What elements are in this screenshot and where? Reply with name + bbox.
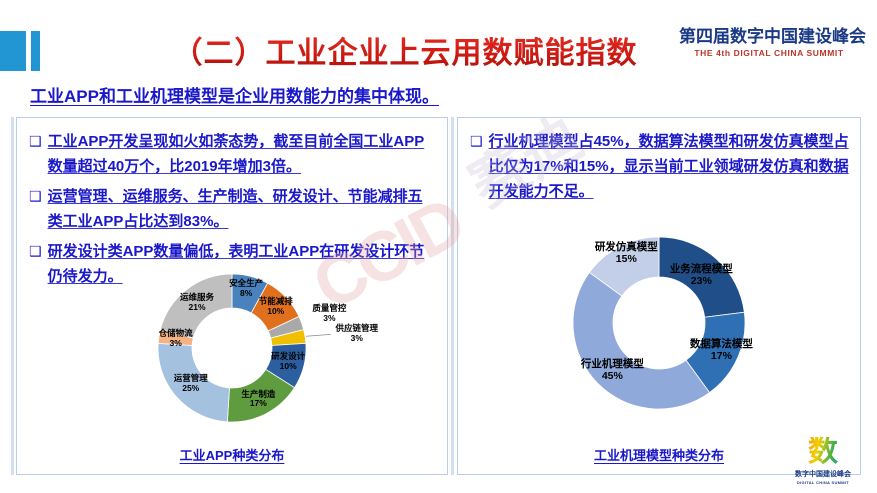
summit-logo-cn: 第四届数字中国建设峰会 bbox=[679, 28, 859, 45]
footer-logo-cn: 数字中国建设峰会 bbox=[785, 469, 861, 479]
donut-label: 运维服务21% bbox=[180, 293, 214, 313]
donut-label-value: 15% bbox=[595, 253, 658, 265]
donut-label-value: 17% bbox=[690, 350, 753, 362]
header-accent-bar-wide bbox=[0, 31, 26, 71]
donut-label: 业务流程模型23% bbox=[670, 263, 733, 287]
right-panel: ❑ 行业机理模型占45%，数据算法模型和研发仿真模型占比仅为17%和15%，显示… bbox=[457, 117, 861, 475]
donut-label: 运营管理25% bbox=[174, 375, 208, 395]
donut-label-value: 10% bbox=[271, 362, 305, 372]
donut-label-value: 3% bbox=[159, 339, 193, 349]
summit-logo: 第四届数字中国建设峰会 THE 4th DIGITAL CHINA SUMMIT bbox=[679, 28, 859, 58]
donut-label-name: 行业机理模型 bbox=[581, 358, 644, 370]
list-item: ❑ 运营管理、运维服务、生产制造、研发设计、节能减排五类工业APP占比达到83%… bbox=[29, 184, 437, 234]
model-donut-chart: 业务流程模型23%数据算法模型17%行业机理模型45%研发仿真模型15% bbox=[458, 218, 860, 448]
footer-logo-mark: 数 bbox=[785, 437, 861, 467]
right-panel-edge bbox=[451, 117, 454, 475]
donut-label-name: 业务流程模型 bbox=[670, 263, 733, 275]
donut-label: 研发仿真模型15% bbox=[595, 241, 658, 265]
page-title: （二）工业企业上云用数赋能指数 bbox=[170, 26, 640, 74]
section-subtitle: 工业APP和工业机理模型是企业用数能力的集中体现。 bbox=[30, 82, 439, 107]
donut-label: 节能减排10% bbox=[259, 297, 293, 317]
bullet-text: 运营管理、运维服务、生产制造、研发设计、节能减排五类工业APP占比达到83%。 bbox=[48, 184, 437, 234]
donut-label-value: 3% bbox=[312, 314, 346, 324]
donut-label-name: 数据算法模型 bbox=[690, 338, 753, 350]
donut-label: 仓储物流3% bbox=[159, 329, 193, 349]
donut-label-value: 10% bbox=[259, 307, 293, 317]
donut-label-value: 45% bbox=[581, 370, 644, 382]
donut-label-value: 23% bbox=[670, 275, 733, 287]
bullet-square-icon: ❑ bbox=[470, 129, 483, 154]
donut-label: 行业机理模型45% bbox=[581, 358, 644, 382]
slide: （二）工业企业上云用数赋能指数 第四届数字中国建设峰会 THE 4th DIGI… bbox=[0, 0, 877, 493]
model-donut-svg bbox=[458, 218, 860, 448]
app-chart-title: 工业APP种类分布 bbox=[17, 445, 447, 464]
donut-label: 研发设计10% bbox=[271, 353, 305, 373]
bullet-square-icon: ❑ bbox=[29, 184, 42, 209]
donut-label-value: 17% bbox=[241, 400, 275, 410]
donut-label-value: 21% bbox=[180, 303, 214, 313]
donut-label: 数据算法模型17% bbox=[690, 338, 753, 362]
left-panel: ❑ 工业APP开发呈现如火如荼态势，截至目前全国工业APP数量超过40万个，比2… bbox=[16, 117, 448, 475]
summit-logo-en: THE 4th DIGITAL CHINA SUMMIT bbox=[679, 49, 859, 58]
bullet-text: 行业机理模型占45%，数据算法模型和研发仿真模型占比仅为17%和15%，显示当前… bbox=[489, 129, 850, 204]
bullet-square-icon: ❑ bbox=[29, 129, 42, 154]
list-item: ❑ 行业机理模型占45%，数据算法模型和研发仿真模型占比仅为17%和15%，显示… bbox=[470, 129, 850, 204]
list-item: ❑ 工业APP开发呈现如火如荼态势，截至目前全国工业APP数量超过40万个，比2… bbox=[29, 129, 437, 179]
donut-label: 生产制造17% bbox=[241, 390, 275, 410]
donut-leader-line bbox=[306, 334, 331, 336]
right-bullet-list: ❑ 行业机理模型占45%，数据算法模型和研发仿真模型占比仅为17%和15%，显示… bbox=[470, 129, 850, 209]
bullet-text: 工业APP开发呈现如火如荼态势，截至目前全国工业APP数量超过40万个，比201… bbox=[48, 129, 437, 179]
left-panel-edge bbox=[11, 117, 14, 475]
footer-logo: 数 数字中国建设峰会 DIGITAL CHINA SUMMIT bbox=[785, 437, 861, 485]
donut-label: 供应链管理3% bbox=[336, 325, 379, 345]
donut-label-value: 25% bbox=[174, 384, 208, 394]
header-accent-bar-thin bbox=[31, 31, 40, 71]
app-donut-chart: 安全生产8%节能减排10%质量管控3%供应链管理3%研发设计10%生产制造17%… bbox=[17, 268, 447, 438]
donut-label-name: 研发仿真模型 bbox=[595, 241, 658, 253]
donut-label-value: 3% bbox=[336, 334, 379, 344]
footer-logo-en: DIGITAL CHINA SUMMIT bbox=[785, 480, 861, 485]
bullet-square-icon: ❑ bbox=[29, 239, 42, 264]
donut-label: 质量管控3% bbox=[312, 304, 346, 324]
